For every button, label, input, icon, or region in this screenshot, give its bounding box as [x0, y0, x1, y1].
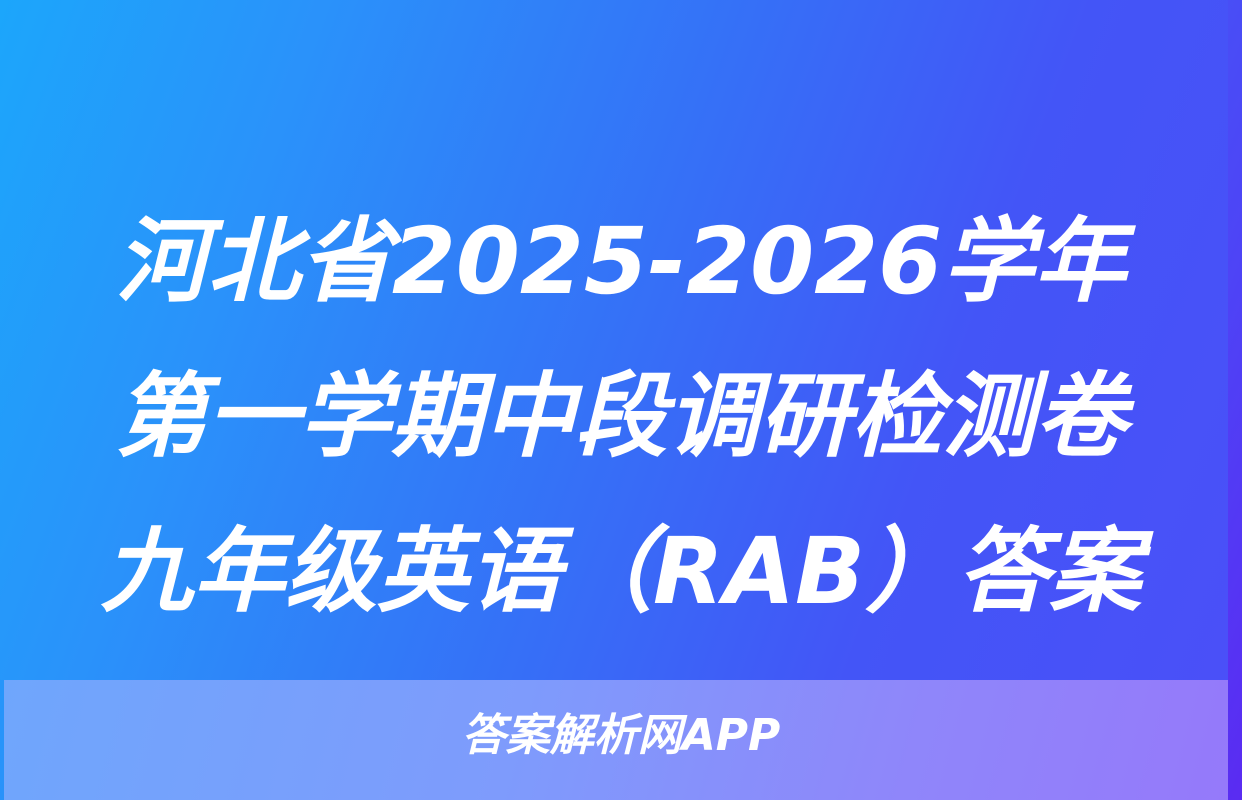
footer-watermark: 答案解析网APP: [0, 710, 1242, 762]
page-title: 河北省2025-2026学年 第一学期中段调研检测卷 九年级英语（RAB）答案: [0, 184, 1242, 649]
title-line-3: 九年级英语（RAB）答案: [0, 494, 1242, 649]
footer-watermark-label: 答案解析网APP: [462, 710, 781, 762]
title-line-1: 河北省2025-2026学年: [0, 184, 1242, 339]
banner-canvas: 河北省2025-2026学年 第一学期中段调研检测卷 九年级英语（RAB）答案 …: [0, 0, 1242, 800]
title-line-2: 第一学期中段调研检测卷: [0, 339, 1242, 494]
